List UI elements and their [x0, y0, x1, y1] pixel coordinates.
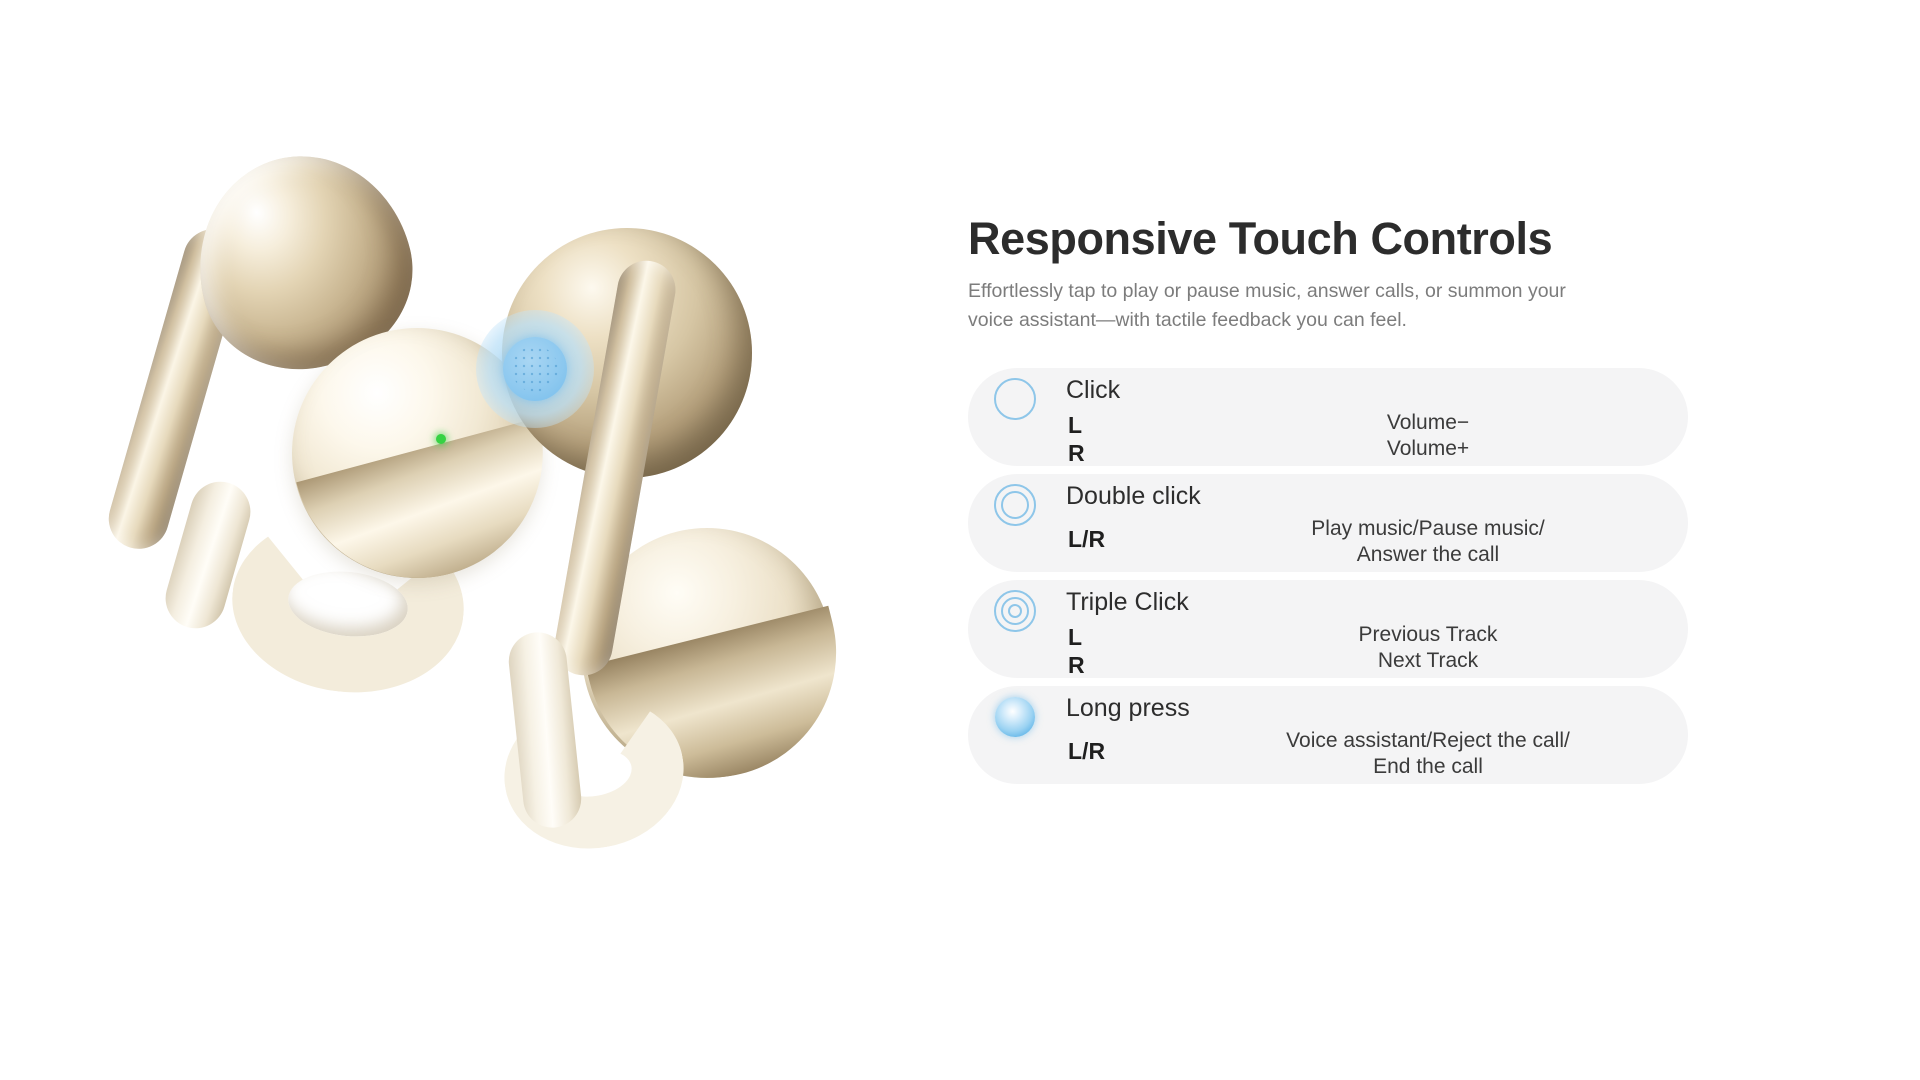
- page-title: Responsive Touch Controls: [968, 215, 1688, 263]
- action-labels: Play music/Pause music/ Answer the call: [1168, 516, 1688, 566]
- channel-label: R: [1068, 652, 1085, 679]
- status-led-icon: [436, 434, 446, 444]
- touch-dot-texture: [512, 346, 558, 392]
- action-labels: Voice assistant/Reject the call/ End the…: [1168, 728, 1688, 778]
- action-label: Voice assistant/Reject the call/: [1168, 728, 1688, 753]
- control-row-long-press[interactable]: Long press L/R Voice assistant/Reject th…: [968, 686, 1688, 784]
- channel-label: R: [1068, 440, 1085, 467]
- action-labels: Previous Track Next Track: [1168, 622, 1688, 672]
- channel-labels: L R: [1068, 412, 1085, 466]
- right-earbud: [470, 228, 870, 848]
- touch-controls-panel: Responsive Touch Controls Effortlessly t…: [968, 215, 1688, 784]
- channel-labels: L/R: [1068, 526, 1105, 553]
- action-label: End the call: [1168, 754, 1688, 779]
- gesture-label: Click: [1066, 376, 1120, 405]
- channel-labels: L/R: [1068, 738, 1105, 765]
- gesture-label: Long press: [1066, 694, 1190, 723]
- gesture-label: Triple Click: [1066, 588, 1189, 617]
- double-ring-icon: [994, 484, 1036, 526]
- action-label: Answer the call: [1168, 542, 1688, 567]
- single-ring-icon: [994, 378, 1036, 420]
- control-row-double-click[interactable]: Double click L/R Play music/Pause music/…: [968, 474, 1688, 572]
- channel-label: L/R: [1068, 738, 1105, 765]
- page-subtitle: Effortlessly tap to play or pause music,…: [968, 277, 1578, 335]
- product-feature-page: Responsive Touch Controls Effortlessly t…: [0, 0, 1920, 1080]
- action-label: Play music/Pause music/: [1168, 516, 1688, 541]
- channel-label: L: [1068, 624, 1085, 651]
- product-image: [140, 150, 860, 910]
- action-label: Previous Track: [1168, 622, 1688, 647]
- touch-indicator-icon: [476, 310, 594, 428]
- gesture-label: Double click: [1066, 482, 1201, 511]
- channel-label: L/R: [1068, 526, 1105, 553]
- action-label: Volume+: [1168, 436, 1688, 461]
- action-labels: Volume− Volume+: [1168, 410, 1688, 460]
- glow-dot-icon: [994, 696, 1036, 738]
- control-row-click[interactable]: Click L R Volume− Volume+: [968, 368, 1688, 466]
- control-row-triple-click[interactable]: Triple Click L R Previous Track Next Tra…: [968, 580, 1688, 678]
- triple-ring-icon: [994, 590, 1036, 632]
- action-label: Next Track: [1168, 648, 1688, 673]
- channel-label: L: [1068, 412, 1085, 439]
- controls-list: Click L R Volume− Volume+ Double click: [968, 368, 1688, 784]
- touch-core: [503, 337, 567, 401]
- action-label: Volume−: [1168, 410, 1688, 435]
- channel-labels: L R: [1068, 624, 1085, 678]
